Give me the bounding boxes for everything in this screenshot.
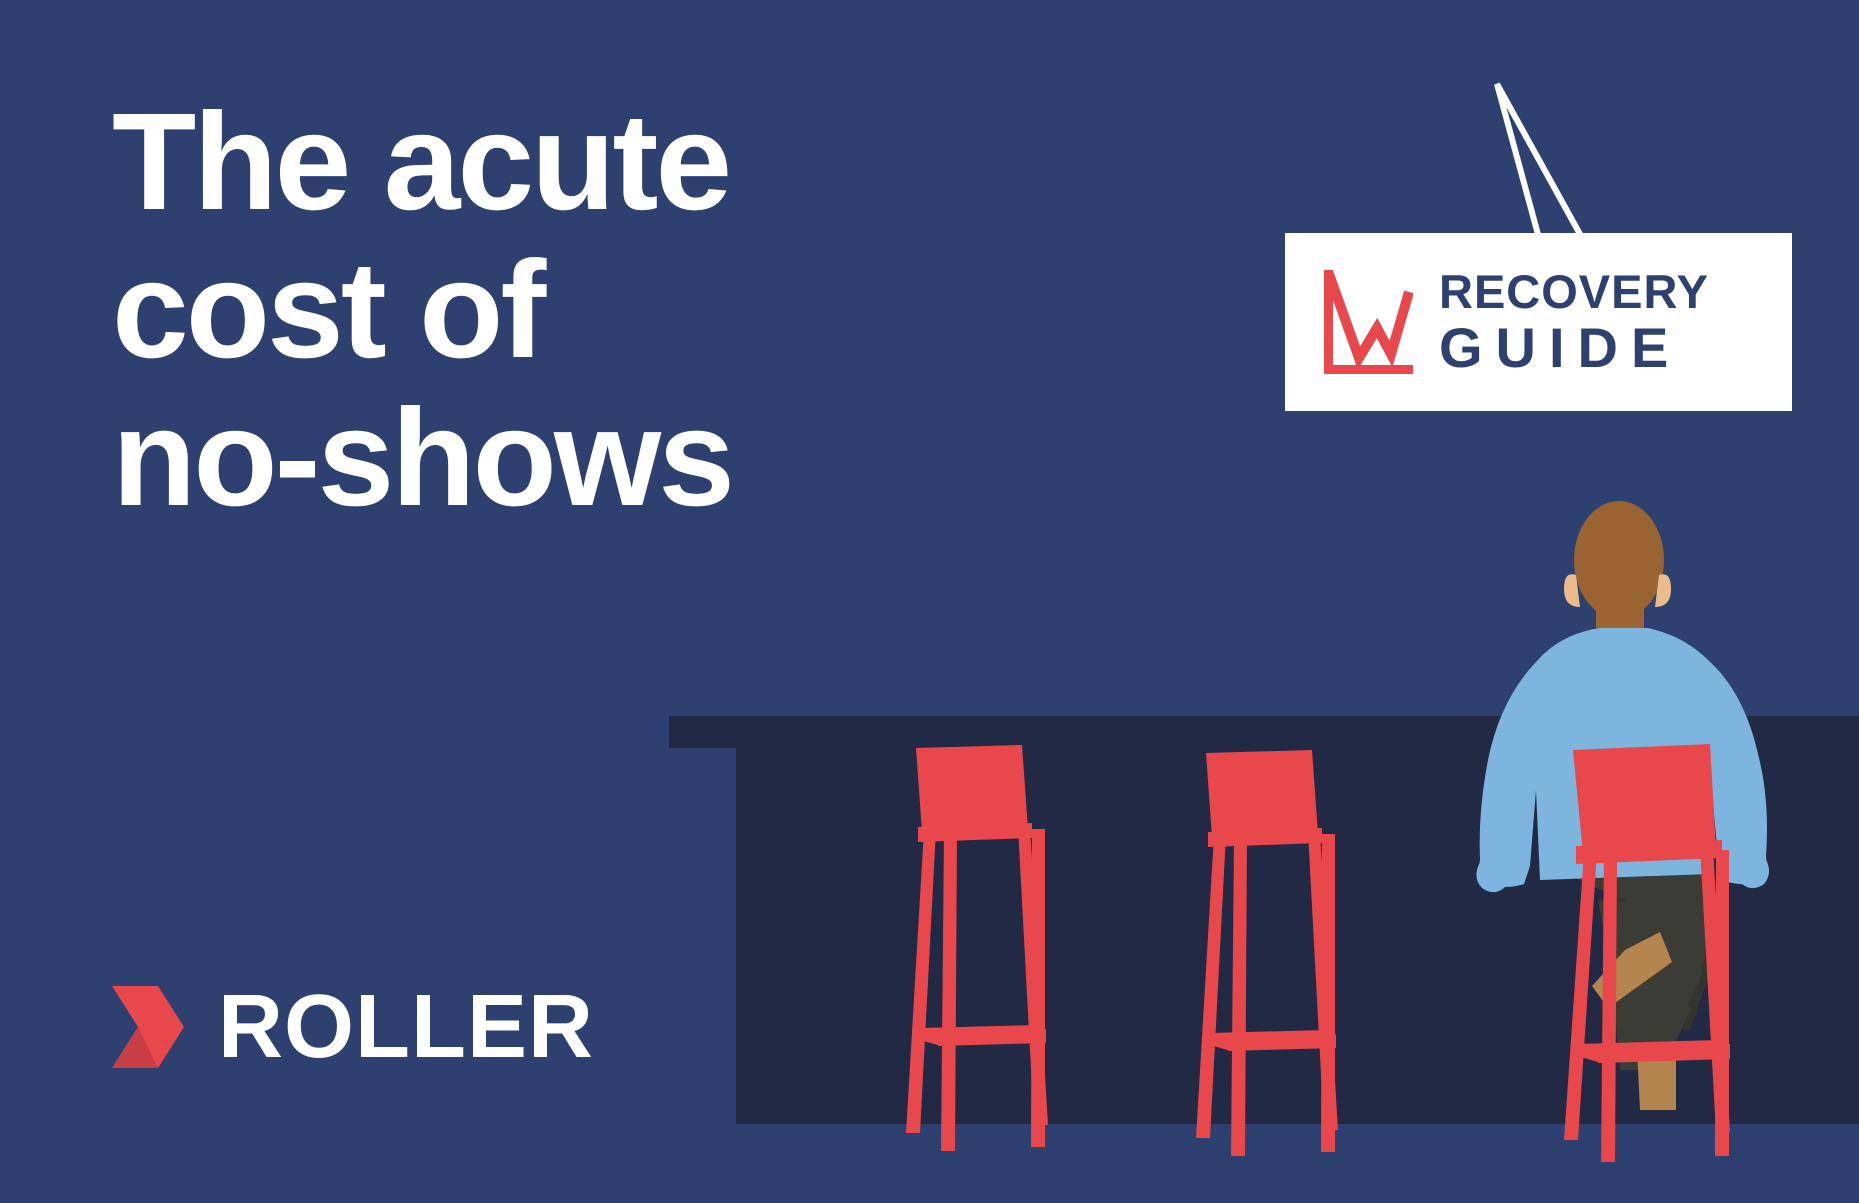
sign-text-block: RECOVERY GUIDE	[1439, 266, 1709, 378]
sign-line-guide: GUIDE	[1439, 318, 1709, 378]
page-title: The acute cost of no-shows	[112, 88, 1042, 532]
poster-canvas: The acute cost of no-shows RECOVERY GUID…	[0, 0, 1859, 1203]
sign-board: RECOVERY GUIDE	[1285, 233, 1792, 411]
sign-hanger-icon	[1285, 78, 1805, 248]
recovery-guide-sign[interactable]: RECOVERY GUIDE	[1285, 78, 1805, 378]
roller-logo[interactable]: ROLLER	[110, 982, 594, 1072]
line-chart-icon	[1321, 270, 1413, 374]
roller-chevron-icon	[110, 984, 186, 1070]
roller-wordmark: ROLLER	[218, 982, 594, 1072]
sign-line-recovery: RECOVERY	[1439, 266, 1709, 318]
